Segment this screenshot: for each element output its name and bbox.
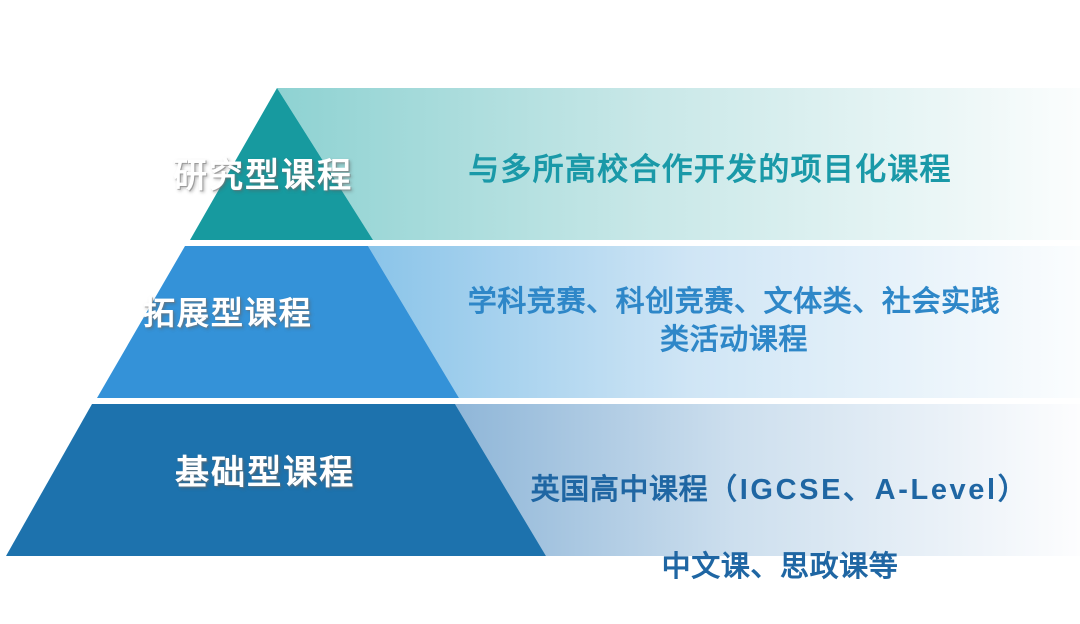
tier-label-research: 研究型课程 bbox=[173, 148, 353, 197]
tier-description-research: 与多所高校合作开发的项目化课程 bbox=[430, 150, 990, 191]
foundation-line1-latin: （IGCSE、A-Level） bbox=[708, 474, 1029, 506]
course-system-pyramid: 研究型课程 与多所高校合作开发的项目化课程 拓展型课程 学科竞赛、科创竞赛、文体… bbox=[0, 0, 1080, 608]
tier-label-extension: 拓展型课程 bbox=[143, 288, 313, 334]
tier-description-foundation: 英国高中课程（IGCSE、A-Level） 中文课、思政课等 bbox=[490, 433, 1070, 624]
foundation-description-line-1: 英国高中课程（IGCSE、A-Level） bbox=[490, 471, 1070, 509]
tier-label-foundation: 基础型课程 bbox=[175, 445, 355, 494]
tier-description-extension: 学科竞赛、科创竞赛、文体类、社会实践 类活动课程 bbox=[400, 283, 1068, 360]
foundation-line1-cjk: 英国高中课程 bbox=[531, 474, 708, 506]
foundation-description-line-2: 中文课、思政课等 bbox=[490, 548, 1070, 586]
